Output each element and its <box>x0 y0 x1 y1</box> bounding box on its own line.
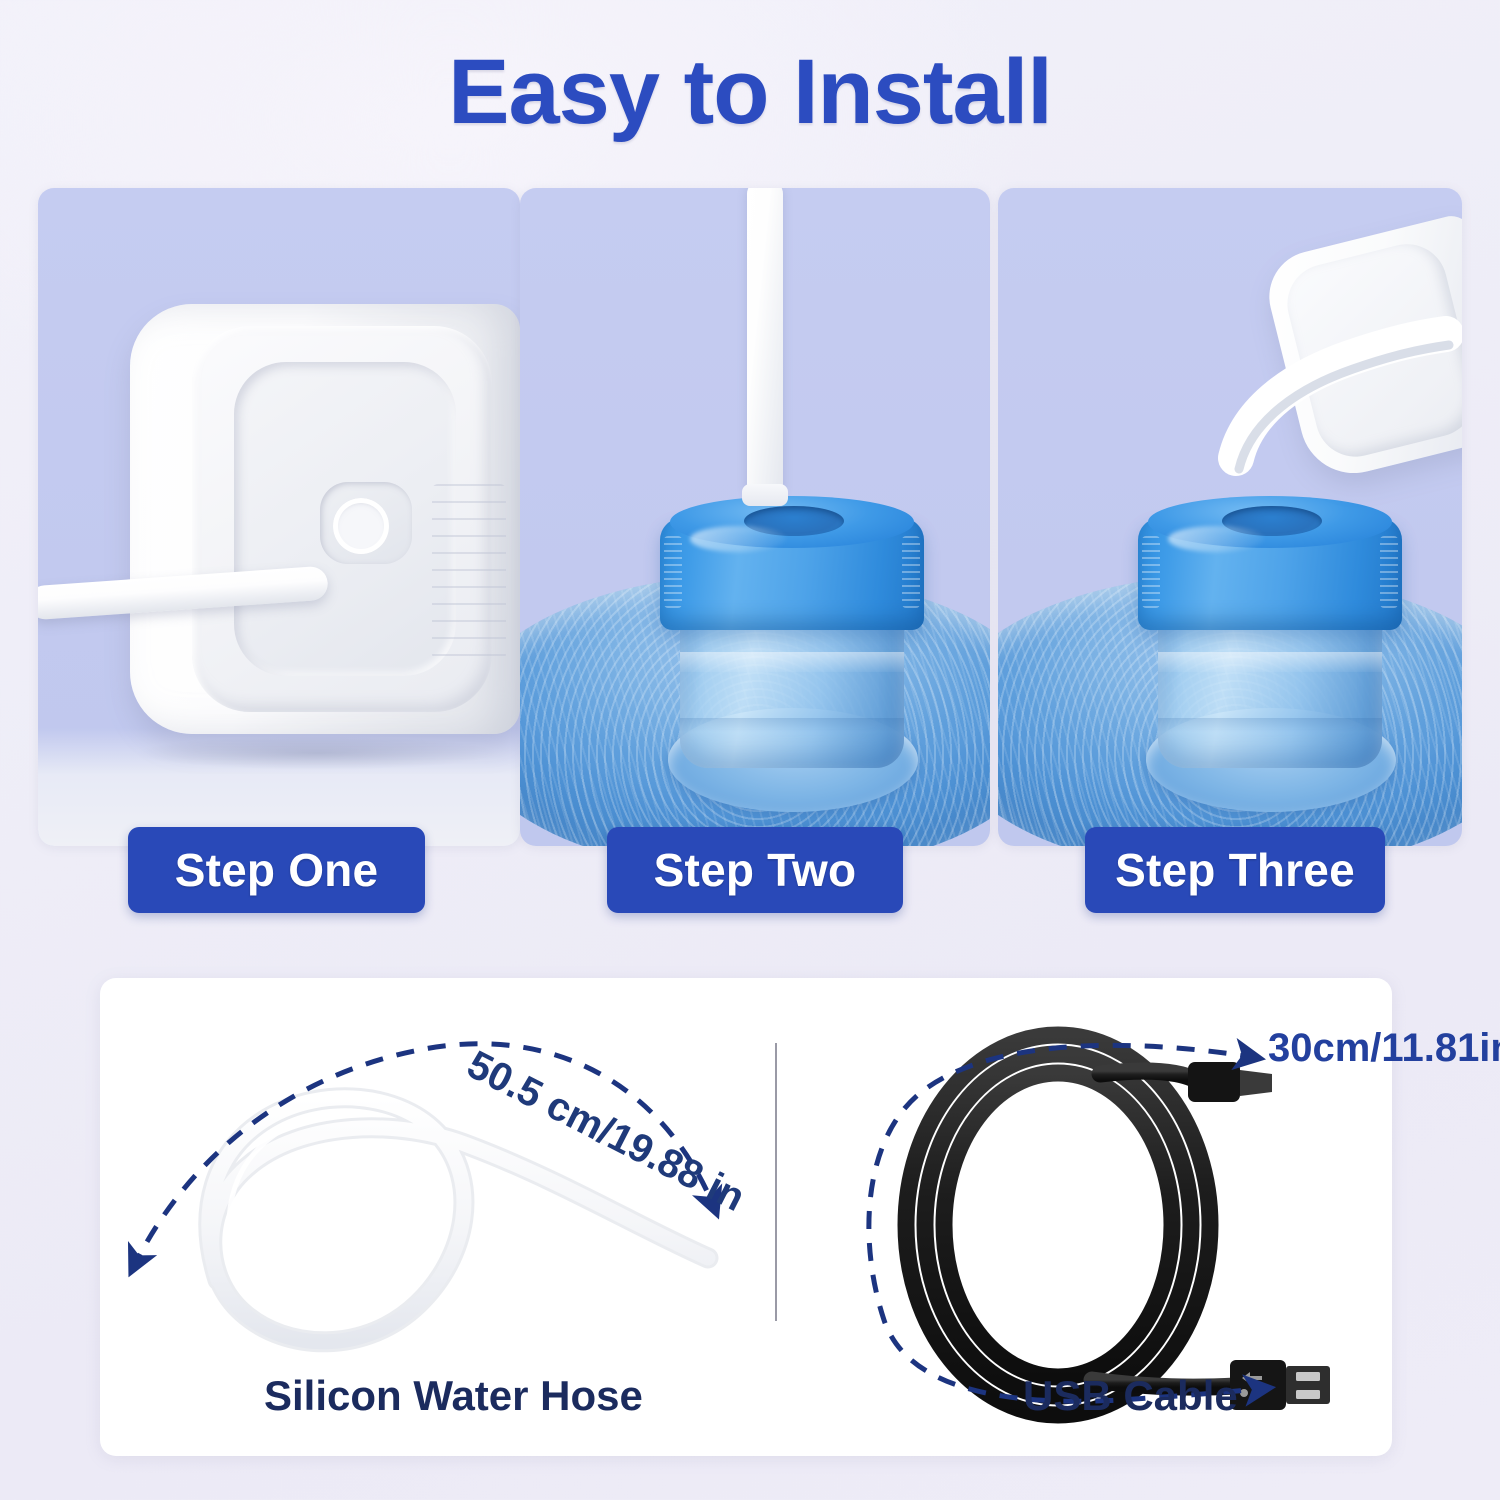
device-drop-shadow <box>134 736 500 770</box>
step-one-illustration <box>38 188 520 846</box>
silicon-hose-vertical <box>747 188 783 498</box>
step-panel-three <box>998 188 1462 846</box>
page-title: Easy to Install <box>0 40 1500 145</box>
steps-row <box>0 188 1500 848</box>
step-badge-one[interactable]: Step One <box>128 827 425 913</box>
pump-side-ribs <box>432 484 506 660</box>
water-pump-device <box>130 304 520 734</box>
silicon-hose-tip <box>742 484 788 506</box>
hose-port <box>320 482 412 564</box>
usb-name-label: USB Cable <box>1023 1372 1238 1420</box>
cap-knurl-right <box>902 536 920 608</box>
step-three-illustration <box>998 188 1462 846</box>
accessories-divider <box>775 1043 777 1321</box>
hose-name-label: Silicon Water Hose <box>264 1372 643 1420</box>
step-two-illustration <box>520 188 990 846</box>
blue-bottle-cap <box>660 518 924 630</box>
silicon-hose-curved <box>998 188 1462 846</box>
cap-highlight <box>690 526 786 552</box>
hose-port-hole <box>333 498 389 554</box>
neck-highlight <box>680 652 904 672</box>
usb-dimension-label: 30cm/11.81in <box>1268 1026 1500 1071</box>
step-badge-two[interactable]: Step Two <box>607 827 903 913</box>
step-panel-one <box>38 188 520 846</box>
cap-knurl-left <box>664 536 682 608</box>
step-panel-two <box>520 188 990 846</box>
step-badge-three[interactable]: Step Three <box>1085 827 1385 913</box>
neck-shadow <box>680 718 904 732</box>
pump-recess <box>234 362 456 676</box>
